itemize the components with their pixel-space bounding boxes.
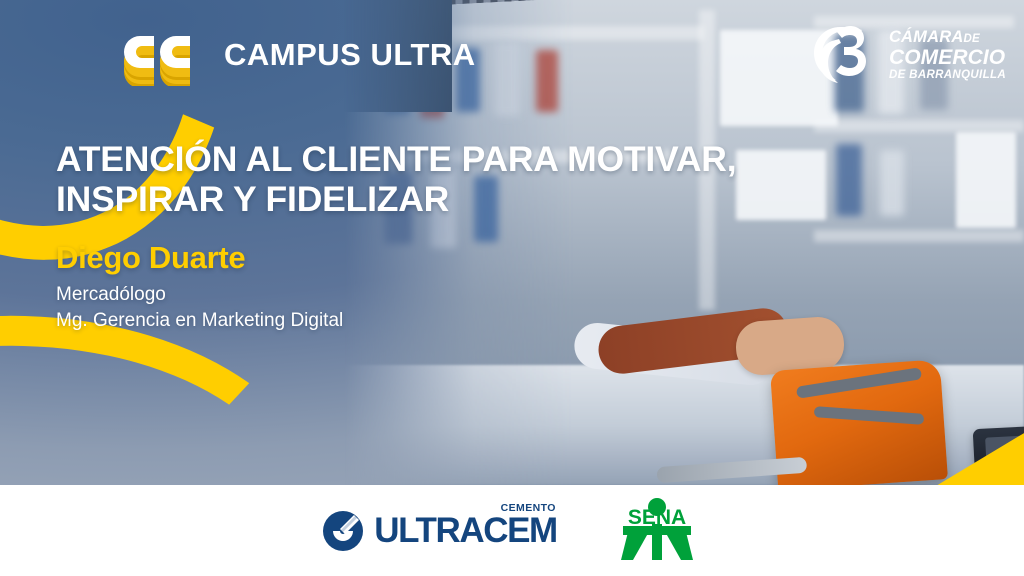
- sena-logo: SENA: [611, 498, 703, 564]
- ccb-line3: DE BARRANQUILLA: [889, 70, 1006, 82]
- ccb-line2: COMERCIO: [889, 47, 1006, 68]
- speaker-name: Diego Duarte: [56, 240, 816, 276]
- presentation-slide: CAMPUS ULTRA CÁMARADE: [0, 0, 1024, 576]
- card-reader: [973, 425, 1024, 483]
- campus-ultra-cu-monogram-icon: [110, 24, 206, 86]
- shelf-bar: [814, 120, 1024, 132]
- shelf-bar: [814, 230, 1024, 242]
- camara-comercio-wordmark: CÁMARADE COMERCIO DE BARRANQUILLA: [889, 29, 1006, 82]
- slide-header: CAMPUS ULTRA CÁMARADE: [0, 0, 1024, 110]
- display-panel: [956, 132, 1016, 228]
- camara-comercio-swoosh-icon: [810, 22, 882, 88]
- tool-item: [880, 150, 904, 216]
- ccb-line1: CÁMARA: [889, 28, 964, 46]
- speaker-credentials: Mercadólogo Mg. Gerencia en Marketing Di…: [56, 282, 816, 336]
- ultracem-tagline: CEMENTO: [501, 502, 556, 514]
- campus-ultra-wordmark: CAMPUS ULTRA: [224, 37, 476, 73]
- ultracem-logo: ULTRACEM CEMENTO: [321, 509, 557, 553]
- slide-footer: ULTRACEM CEMENTO SENA: [0, 485, 1024, 576]
- campus-ultra-logo: CAMPUS ULTRA: [110, 24, 476, 86]
- speaker-role-line2: Mg. Gerencia en Marketing Digital: [56, 308, 816, 335]
- ccb-line1-small: DE: [963, 33, 979, 45]
- slide-copy-block: ATENCIÓN AL CLIENTE PARA MOTIVAR, INSPIR…: [56, 140, 816, 335]
- camara-comercio-logo: CÁMARADE COMERCIO DE BARRANQUILLA: [810, 22, 1006, 88]
- speaker-role-line1: Mercadólogo: [56, 282, 816, 309]
- slide-stage: CAMPUS ULTRA CÁMARADE: [0, 0, 1024, 485]
- page-title: ATENCIÓN AL CLIENTE PARA MOTIVAR, INSPIR…: [56, 140, 816, 220]
- ultracem-wordmark-group: ULTRACEM CEMENTO: [374, 513, 557, 548]
- ultracem-wordmark: ULTRACEM: [374, 511, 557, 550]
- tool-item: [836, 144, 862, 216]
- sena-wordmark: SENA: [628, 506, 686, 529]
- ultracem-circle-slash-icon: [321, 509, 365, 553]
